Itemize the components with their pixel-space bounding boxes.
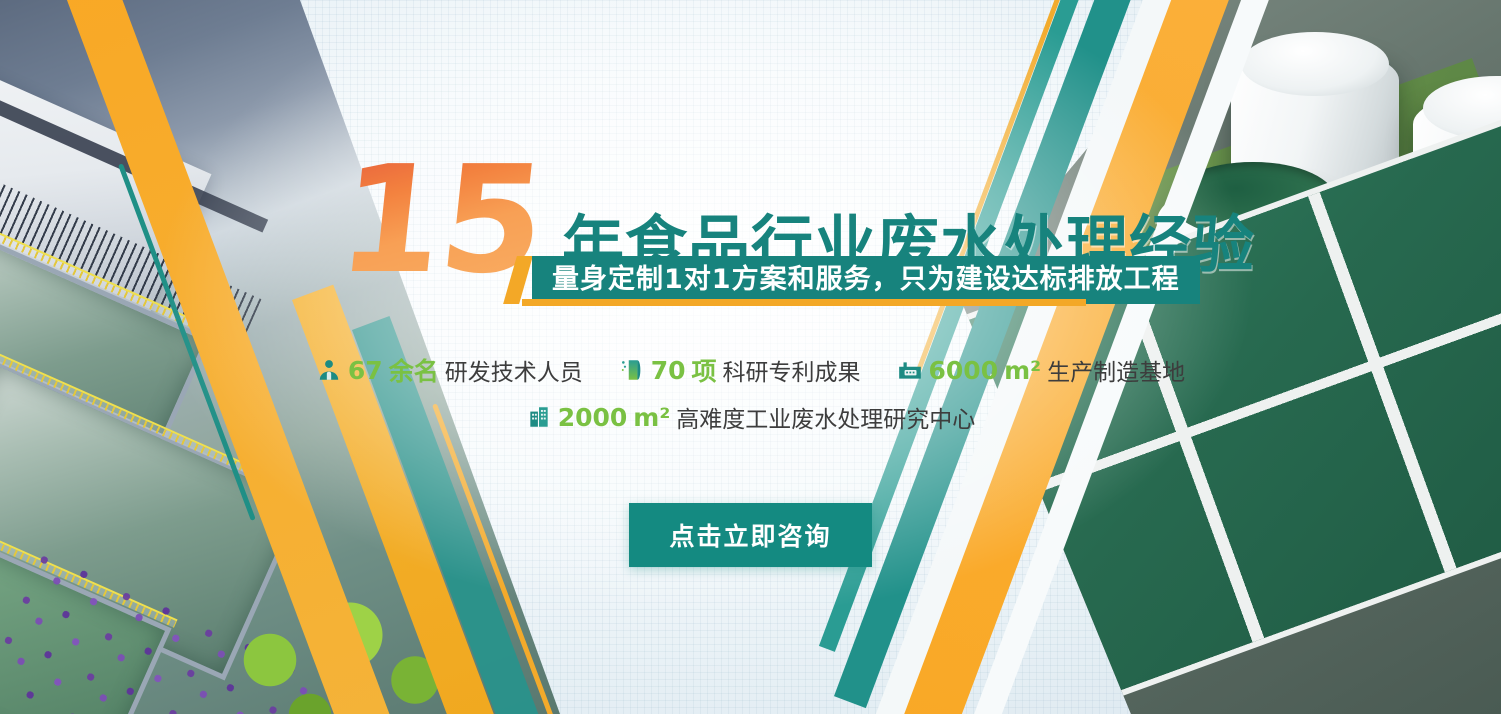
feature-value: 70 bbox=[651, 356, 686, 385]
building-icon bbox=[526, 404, 552, 430]
subtitle-banner: 量身定制1对1方案和服务，只为建设达标排放工程 bbox=[510, 256, 1200, 304]
feature-item-research-center: 2000 m² 高难度工业废水处理研究中心 bbox=[526, 400, 976, 434]
consult-now-button[interactable]: 点击立即咨询 bbox=[629, 503, 871, 567]
promo-banner: 15 年食品行业废水处理经验 量身定制1对1方案和服务，只为建设达标排放工程 6… bbox=[0, 0, 1501, 714]
feature-label: 生产制造基地 bbox=[1047, 353, 1185, 387]
feature-item-patents: 70 项 科研专利成果 bbox=[619, 352, 861, 388]
feature-unit: 余名 bbox=[389, 352, 439, 388]
patent-icon bbox=[619, 357, 645, 383]
feature-label: 科研专利成果 bbox=[723, 353, 861, 387]
feature-label: 高难度工业废水处理研究中心 bbox=[676, 400, 975, 434]
feature-stats: 67 余名 研发技术人员 bbox=[0, 352, 1501, 434]
banner-content: 15 年食品行业废水处理经验 量身定制1对1方案和服务，只为建设达标排放工程 6… bbox=[0, 0, 1501, 714]
feature-item-staff: 67 余名 研发技术人员 bbox=[316, 352, 583, 388]
subtitle-text: 量身定制1对1方案和服务，只为建设达标排放工程 bbox=[532, 256, 1200, 304]
feature-label: 研发技术人员 bbox=[445, 353, 583, 387]
cta-area: 点击立即咨询 bbox=[0, 503, 1501, 567]
subtitle-underline bbox=[522, 299, 1086, 306]
factory-icon bbox=[897, 357, 923, 383]
feature-value: 2000 bbox=[558, 403, 628, 432]
feature-item-factory: 6000 m² 生产制造基地 bbox=[897, 353, 1186, 387]
feature-unit: 项 bbox=[692, 352, 717, 388]
feature-row-primary: 67 余名 研发技术人员 bbox=[316, 352, 1185, 388]
feature-row-secondary: 2000 m² 高难度工业废水处理研究中心 bbox=[526, 400, 976, 434]
feature-value: 6000 bbox=[929, 356, 999, 385]
feature-unit: m² bbox=[633, 403, 670, 432]
feature-value: 67 bbox=[348, 356, 383, 385]
feature-unit: m² bbox=[1004, 356, 1041, 385]
person-icon bbox=[316, 357, 342, 383]
